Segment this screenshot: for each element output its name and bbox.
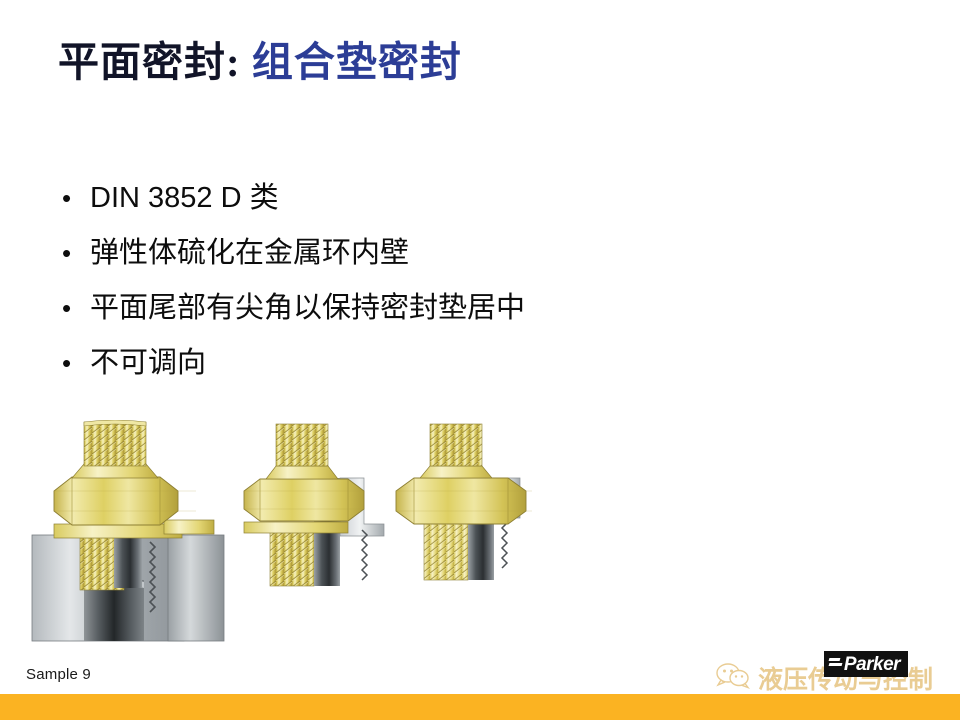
bullet-marker-icon bbox=[56, 350, 90, 376]
bullet-marker-icon bbox=[56, 240, 90, 266]
list-item: DIN 3852 D 类 bbox=[56, 182, 856, 237]
list-item-label: 不可调向 bbox=[90, 347, 206, 380]
slide-canvas: 平面密封: 组合垫密封 DIN 3852 D 类 弹性体硫化在金属环内壁 平面尾… bbox=[0, 0, 960, 720]
wechat-icon bbox=[716, 662, 750, 695]
footer-accent-band bbox=[0, 694, 960, 720]
parker-logo-text: Parker bbox=[844, 655, 900, 674]
figure-fitting-plain bbox=[396, 424, 532, 580]
bullet-marker-icon bbox=[56, 185, 90, 211]
technical-illustration bbox=[28, 420, 548, 660]
list-item-label: 弹性体硫化在金属环内壁 bbox=[90, 237, 409, 270]
list-item: 弹性体硫化在金属环内壁 bbox=[56, 237, 856, 292]
parker-logo: Parker bbox=[824, 651, 908, 677]
figure-fitting-in-block bbox=[32, 420, 224, 641]
list-item-label: DIN 3852 D 类 bbox=[90, 182, 279, 215]
bullet-marker-icon bbox=[56, 295, 90, 321]
list-item: 不可调向 bbox=[56, 347, 856, 402]
bullet-list: DIN 3852 D 类 弹性体硫化在金属环内壁 平面尾部有尖角以保持密封垫居中… bbox=[56, 182, 856, 402]
page-title: 平面密封: 组合垫密封 bbox=[58, 34, 878, 96]
list-item: 平面尾部有尖角以保持密封垫居中 bbox=[56, 292, 856, 347]
list-item-label: 平面尾部有尖角以保持密封垫居中 bbox=[90, 292, 525, 325]
page-title-primary: 平面密封: bbox=[58, 39, 241, 85]
figure-fitting-with-washer bbox=[244, 424, 384, 586]
parker-chevron-icon bbox=[829, 658, 842, 670]
page-title-accent: 组合垫密封 bbox=[241, 39, 462, 85]
sample-label: Sample 9 bbox=[26, 666, 91, 683]
